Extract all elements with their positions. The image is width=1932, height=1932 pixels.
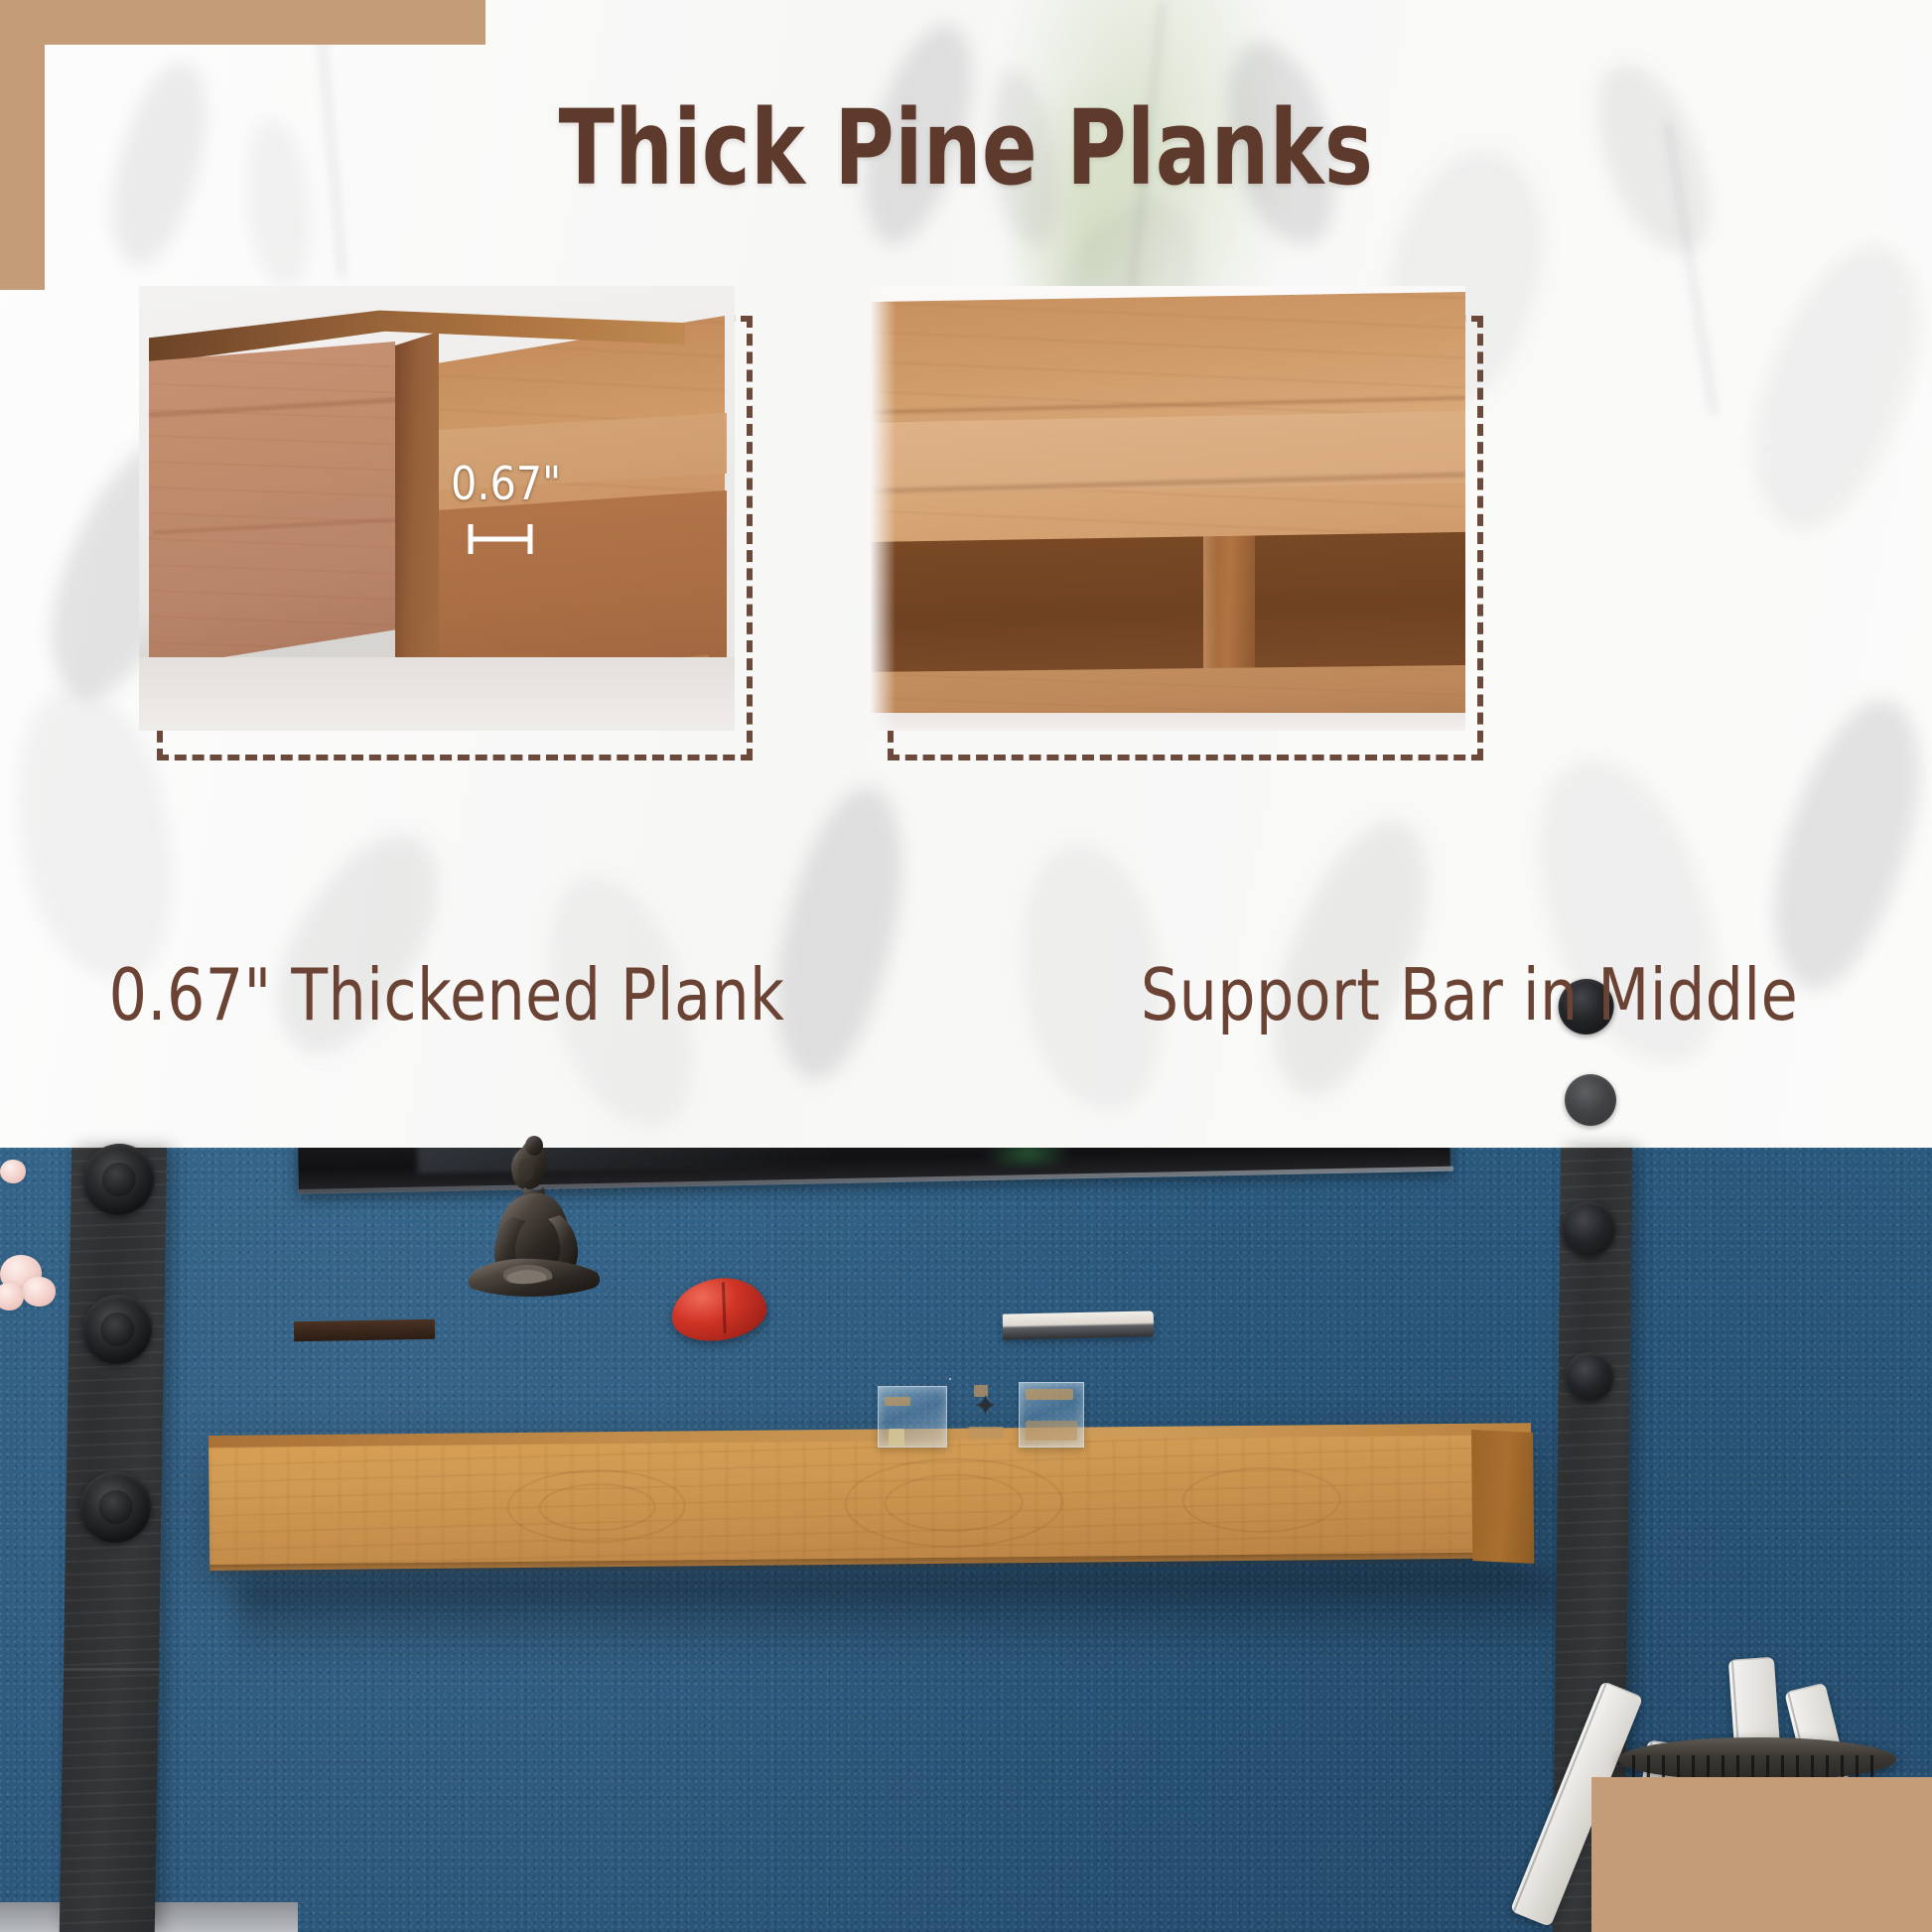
cherry-blossom-icon (22, 1277, 56, 1307)
glass-block-ornament (1019, 1382, 1084, 1448)
corner-accent-horizontal (0, 0, 485, 45)
wood-box-corner-photo: 0.67" (139, 286, 735, 731)
dimension-value-label: 0.67" (451, 457, 561, 510)
glass-block-ornament (878, 1386, 947, 1448)
cherry-blossom-icon (0, 1160, 26, 1183)
glass-inclusion (1026, 1421, 1077, 1441)
glass-star-inclusion: ✦ (973, 1392, 998, 1422)
feature-panel-row: 0.67" (0, 286, 1932, 753)
buddha-statue (449, 1132, 627, 1330)
corner-accent-block (1591, 1777, 1932, 1932)
photo-floor (870, 713, 1465, 731)
floating-wood-shelf (208, 1423, 1532, 1594)
glass-inclusion (889, 1429, 904, 1447)
book (1003, 1311, 1155, 1339)
shelf-underside-support-bar-photo (870, 286, 1465, 731)
photo-floor (139, 657, 735, 731)
feature-panel-support-bar[interactable] (870, 286, 1465, 731)
photo-left-fade (870, 286, 896, 731)
plank-thickness-edge (395, 332, 439, 679)
page-title: Thick Pine Planks (116, 87, 1816, 208)
wood-grain-swirl (1181, 1466, 1341, 1534)
caption-support-bar: Support Bar in Middle (1035, 953, 1903, 1036)
glass-inclusion (885, 1397, 910, 1406)
box-left-face (149, 342, 395, 669)
tv-reflection-plant (983, 1148, 1073, 1168)
tower-seam (64, 1668, 159, 1671)
feature-caption-row: 0.67" Thickened Plank Support Bar in Mid… (0, 953, 1932, 1082)
shelf-end-cap (1471, 1430, 1534, 1564)
speaker-driver-icon (1565, 1352, 1614, 1402)
egg-seam (722, 1282, 727, 1333)
shelf-cavity (870, 528, 1465, 679)
shelf-front-face (208, 1435, 1532, 1571)
speaker-driver-icon (1561, 1201, 1616, 1257)
dimension-arrow-icon (467, 522, 534, 556)
corner-accent-vertical (0, 0, 45, 290)
support-bar-highlight (1203, 534, 1217, 677)
glass-block-ornament (949, 1378, 951, 1380)
dark-box-ornament (294, 1319, 435, 1341)
speaker-tower-left (60, 1148, 167, 1932)
feature-panel-thickened-plank[interactable]: 0.67" (139, 286, 735, 731)
glass-inclusion (968, 1427, 1004, 1439)
glass-inclusion (1026, 1389, 1073, 1400)
feature-section: Thick Pine Planks (0, 0, 1932, 1148)
product-infographic: Thick Pine Planks (0, 0, 1932, 1932)
caption-thickened-plank: 0.67" Thickened Plank (13, 953, 881, 1036)
